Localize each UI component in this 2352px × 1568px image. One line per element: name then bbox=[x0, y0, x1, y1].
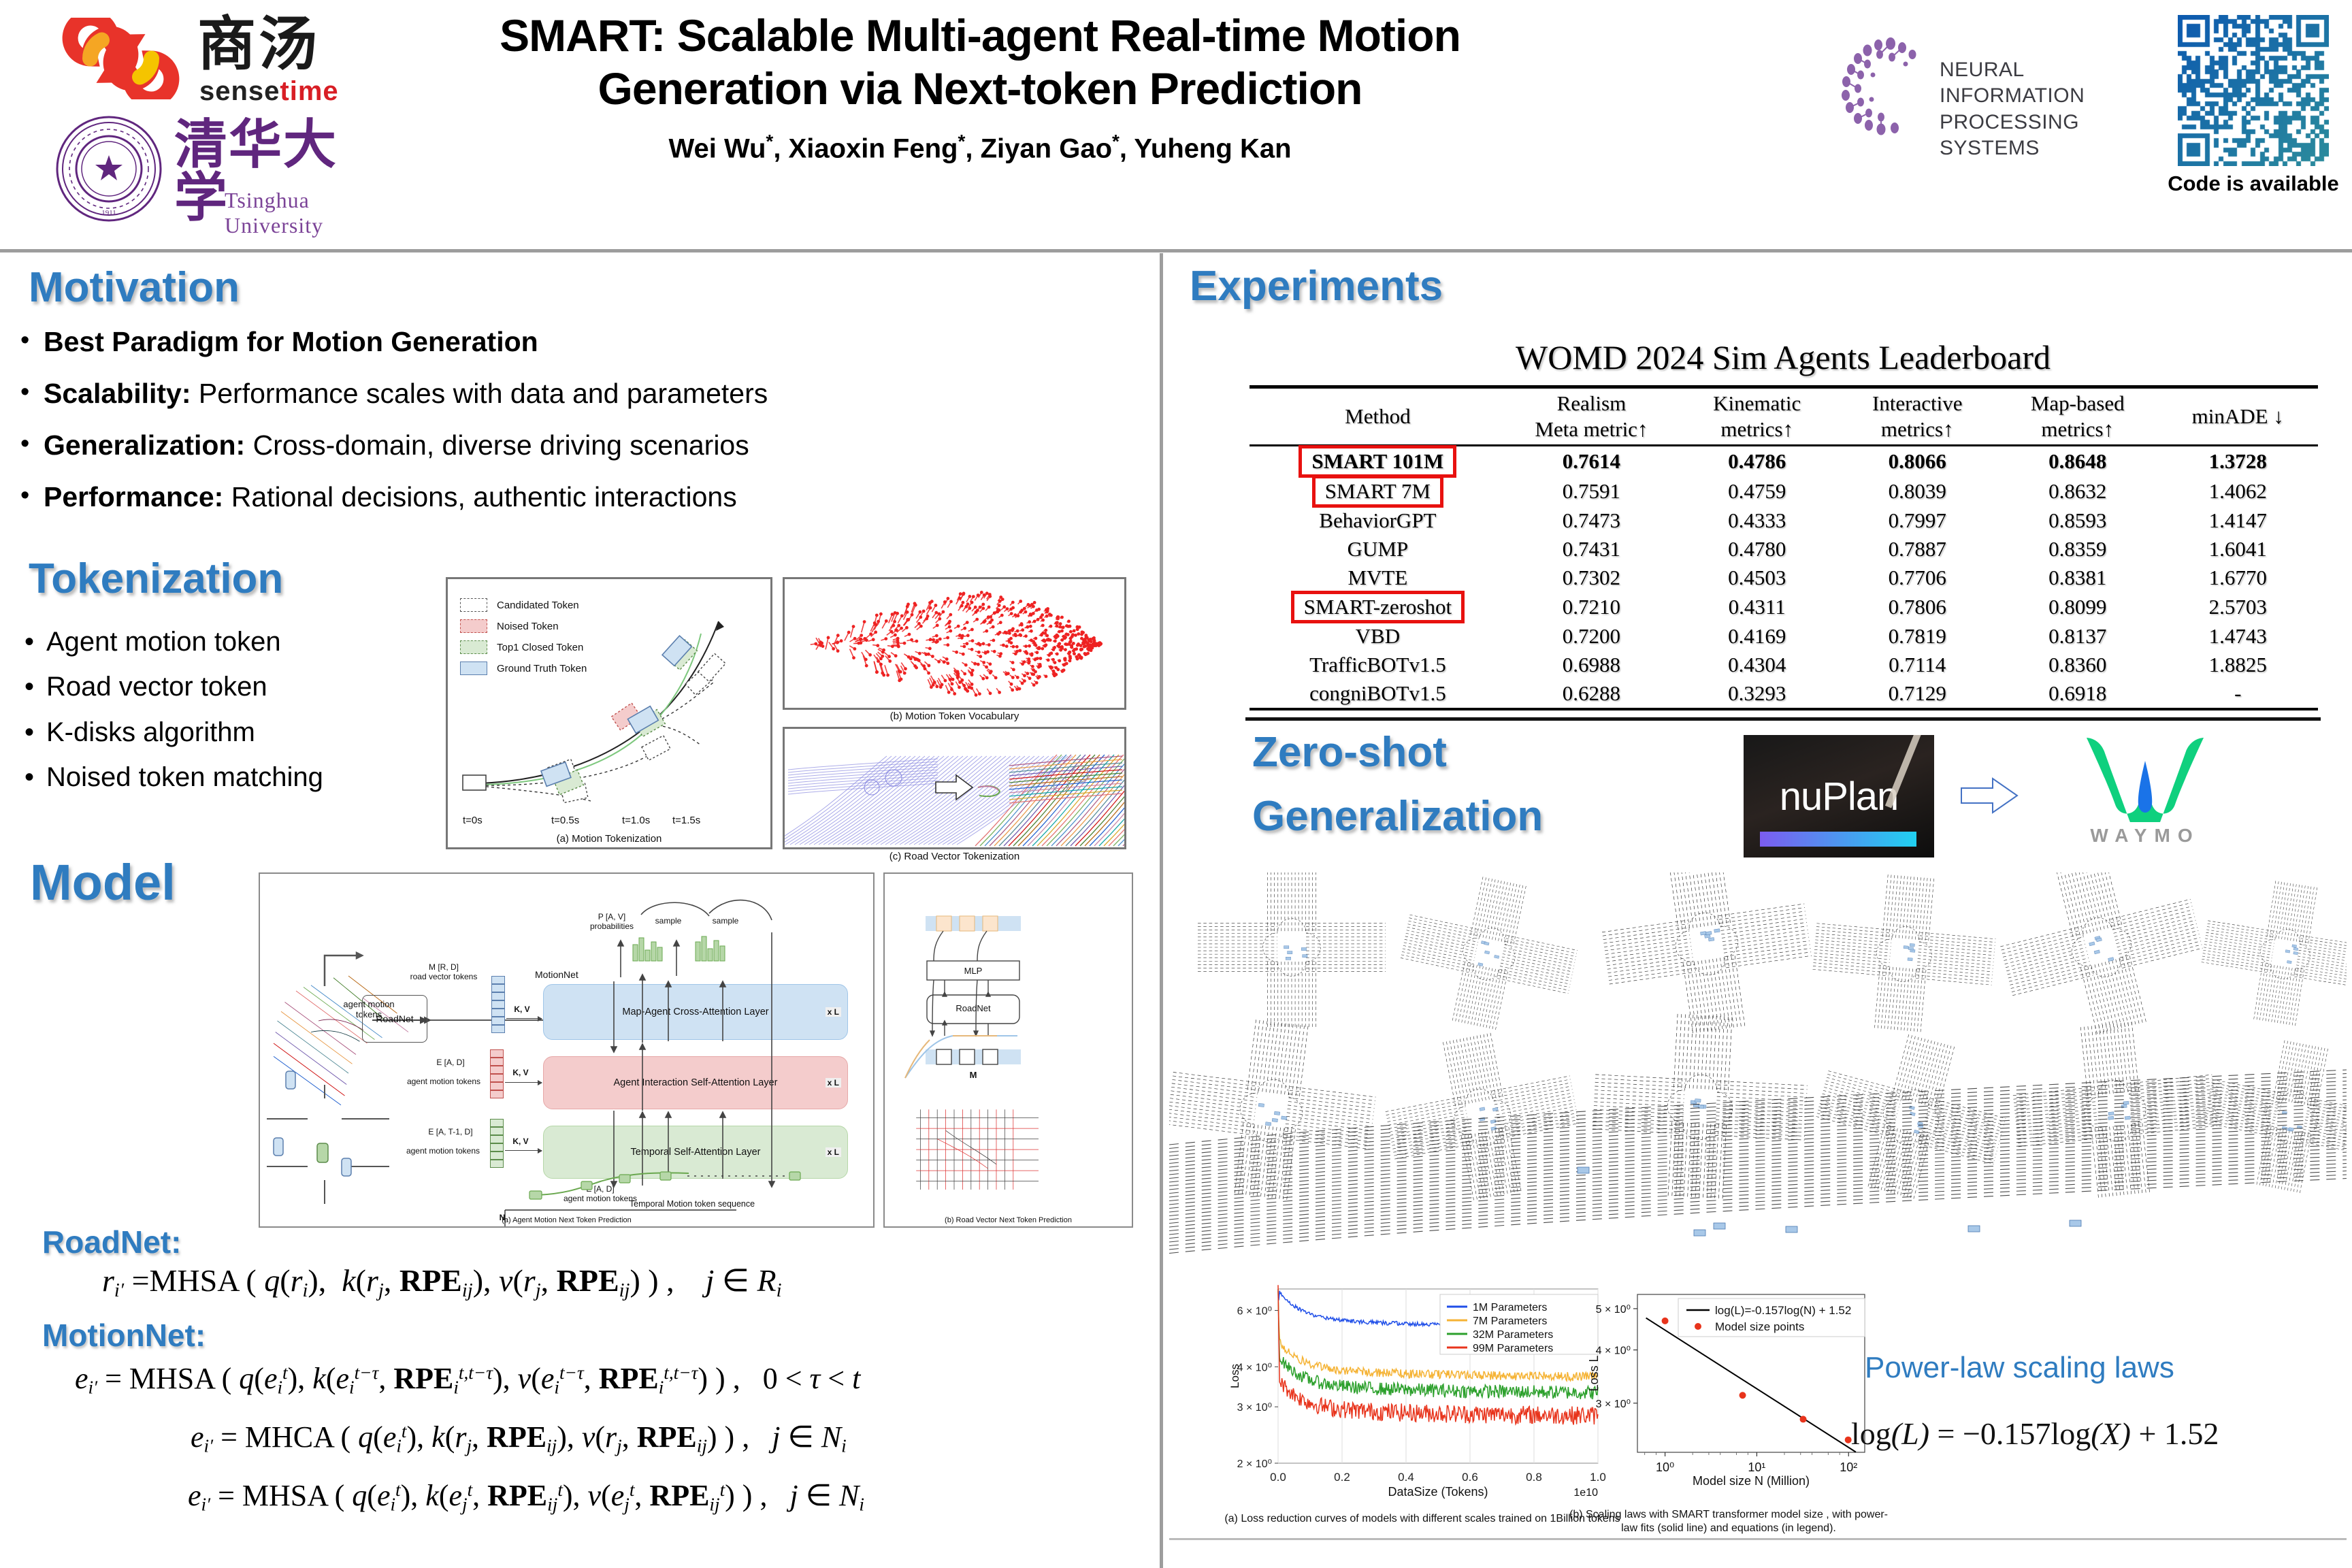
svg-text:32M Parameters: 32M Parameters bbox=[1473, 1329, 1553, 1341]
col-header-kinematic-l1: Kinematic bbox=[1678, 391, 1836, 416]
legend-swatch-noised-icon bbox=[460, 619, 487, 633]
roadnet-block: RoadNet bbox=[362, 995, 427, 1043]
table-row: MVTE0.73020.45030.77060.83811.6770 bbox=[1249, 563, 2318, 592]
col-header-map-l2: metrics↑ bbox=[1999, 416, 2157, 442]
col-header-kinematic: Kinematic metrics↑ bbox=[1677, 387, 1837, 446]
title-block: SMART: Scalable Multi-agent Real-time Mo… bbox=[381, 10, 1579, 164]
motivation-item-3-rest: Rational decisions, authentic interactio… bbox=[223, 481, 736, 512]
figure-model-architecture: agent motion tokens bbox=[259, 872, 1133, 1228]
table-cell-method: GUMP bbox=[1249, 535, 1506, 563]
mlp-text: MLP bbox=[964, 966, 983, 976]
table-header-row: Method Realism Meta metric↑ Kinematic me… bbox=[1249, 387, 2318, 446]
p-av-label: P [A, V] probabilities bbox=[574, 912, 649, 932]
svg-text:Loss: Loss bbox=[1228, 1364, 1241, 1388]
table-cell-method: VBD bbox=[1249, 622, 1506, 651]
svg-text:99M Parameters: 99M Parameters bbox=[1473, 1343, 1553, 1354]
motivation-item-1-bold: Scalability: bbox=[44, 378, 191, 409]
e-at1d-label: E [A, T-1, D] bbox=[411, 1127, 490, 1137]
tokenization-item-2: K-disks algorithm bbox=[46, 717, 255, 748]
col-header-map-l1: Map-based bbox=[1999, 391, 2157, 416]
motivation-item-3-bold: Performance: bbox=[44, 481, 223, 512]
svg-text:5 × 10⁰: 5 × 10⁰ bbox=[1596, 1304, 1631, 1316]
roadnet-equation: ri′ =MHSA ( q(ri), k(rj, RPEij), v(rj, R… bbox=[102, 1262, 782, 1302]
table-row: VBD0.72000.41690.78190.81371.4743 bbox=[1249, 622, 2318, 651]
motionnet-equation-3: ei′ = MHSA ( q(eit), k(ejt, RPEijt), v(e… bbox=[188, 1478, 864, 1516]
table-cell-map: 0.8359 bbox=[1997, 535, 2158, 563]
table-cell-method: SMART-zeroshot bbox=[1249, 592, 1506, 622]
motionnet-equation-heading: MotionNet: bbox=[42, 1317, 206, 1354]
roadnet-equation-heading: RoadNet: bbox=[42, 1224, 181, 1260]
probabilities-text: probabilities bbox=[590, 921, 634, 931]
table-cell-interactive: 0.8066 bbox=[1837, 445, 1997, 476]
table-cell-interactive: 0.8039 bbox=[1837, 476, 1997, 506]
table-cell-kinematic: 0.3293 bbox=[1677, 679, 1837, 709]
bullet-icon: • bbox=[20, 430, 44, 459]
col-header-interactive-l2: metrics↑ bbox=[1838, 416, 1996, 442]
col-header-minade: minADE ↓ bbox=[2157, 387, 2318, 446]
sensetime-word-sense: sense bbox=[199, 76, 280, 106]
svg-text:10¹: 10¹ bbox=[1748, 1460, 1765, 1474]
poster-title-line1: SMART: Scalable Multi-agent Real-time Mo… bbox=[381, 10, 1579, 63]
svg-text:0.4: 0.4 bbox=[1398, 1471, 1414, 1484]
poster-root: 商汤 sensetime 1911 清华大学 Tsinghua Univers bbox=[0, 0, 2352, 1568]
table-cell-kinematic: 0.4780 bbox=[1677, 535, 1837, 563]
sample-text-2: sample bbox=[713, 916, 739, 926]
highlighted-method-name: SMART-zeroshot bbox=[1294, 594, 1461, 620]
table-row: GUMP0.74310.47800.78870.83591.6041 bbox=[1249, 535, 2318, 563]
agent-interaction-self-attention-layer: Agent Interaction Self-Attention Layer x… bbox=[543, 1056, 848, 1109]
col-header-realism-l1: Realism bbox=[1507, 391, 1676, 416]
motivation-item-2-rest: Cross-domain, diverse driving scenarios bbox=[245, 429, 749, 461]
chart-scaling-law: 10⁰10¹10²5 × 10⁰4 × 10⁰3 × 10⁰log(L)=-0.… bbox=[1586, 1286, 1872, 1497]
col-header-realism: Realism Meta metric↑ bbox=[1506, 387, 1677, 446]
neurips-swirl-icon bbox=[1837, 34, 1933, 136]
figure-caption-motion-token-vocabulary: (b) Motion Token Vocabulary bbox=[783, 710, 1126, 722]
neurips-line1: NEURAL INFORMATION bbox=[1940, 57, 2171, 110]
zeroshot-map-visualizations bbox=[1169, 872, 2347, 1254]
legend-item: Candidated Token bbox=[460, 598, 587, 612]
poster-title-line2: Generation via Next-token Prediction bbox=[381, 63, 1579, 116]
col-header-map: Map-based metrics↑ bbox=[1997, 387, 2158, 446]
nuplan-logo: nuPlan bbox=[1744, 735, 1934, 857]
table-cell-map: 0.6918 bbox=[1997, 679, 2158, 709]
table-cell-minade: 1.4062 bbox=[2157, 476, 2318, 506]
table-cell-interactive: 0.7997 bbox=[1837, 506, 1997, 535]
table-row: congniBOTv1.50.62880.32930.71290.6918- bbox=[1249, 679, 2318, 709]
qr-code-caption: Code is available bbox=[2161, 171, 2346, 196]
table-cell-interactive: 0.7819 bbox=[1837, 622, 1997, 651]
model-figure-panel-b: MLP RoadNet M (b) Road Vector Next Token… bbox=[883, 872, 1133, 1228]
col-header-minade-l1: minADE ↓ bbox=[2159, 404, 2317, 429]
table-row: SMART 7M0.75910.47590.80390.86321.4062 bbox=[1249, 476, 2318, 506]
agent-attn-repeat-count: x L bbox=[826, 1078, 841, 1088]
table-cell-interactive: 0.7129 bbox=[1837, 679, 1997, 709]
agent-motion-tokens-text-2: agent motion tokens bbox=[406, 1146, 480, 1156]
legend-item: Noised Token bbox=[460, 619, 587, 633]
bullet-icon: • bbox=[24, 671, 46, 702]
tsinghua-english-wordmark: Tsinghua University bbox=[225, 188, 374, 238]
table-cell-realism: 0.7473 bbox=[1506, 506, 1677, 535]
zeroshot-divider bbox=[1245, 717, 2321, 721]
table-cell-map: 0.8648 bbox=[1997, 445, 2158, 476]
figure-motion-token-vocabulary bbox=[783, 577, 1126, 710]
waymo-w-icon bbox=[2077, 734, 2213, 822]
table-cell-realism: 0.7431 bbox=[1506, 535, 1677, 563]
figure-caption-motion-tokenization: (a) Motion Tokenization bbox=[448, 833, 770, 845]
svg-text:4 × 10⁰: 4 × 10⁰ bbox=[1237, 1362, 1272, 1373]
time-label-0: t=0s bbox=[463, 815, 483, 826]
table-row: SMART 101M0.76140.47860.80660.86481.3728 bbox=[1249, 445, 2318, 476]
chart-caption-scaling-law: (b) Scaling laws with SMART transformer … bbox=[1565, 1508, 1892, 1535]
model-figure-panel-a: agent motion tokens bbox=[259, 872, 875, 1228]
sample-text-1: sample bbox=[655, 916, 682, 926]
highlighted-method-name: SMART 7M bbox=[1316, 478, 1440, 504]
road-vector-tokens-text: road vector tokens bbox=[410, 972, 478, 981]
svg-text:Loss L: Loss L bbox=[1587, 1355, 1601, 1391]
figure-caption-agent-motion-prediction: (a) Agent Motion Next Token Prediction bbox=[260, 1216, 873, 1224]
e-ad-text-2: E [A, D] bbox=[586, 1184, 614, 1194]
svg-text:log(L)=-0.157log(N) + 1.52: log(L)=-0.157log(N) + 1.52 bbox=[1715, 1304, 1851, 1317]
svg-text:DataSize (Tokens): DataSize (Tokens) bbox=[1388, 1485, 1488, 1499]
table-cell-interactive: 0.7887 bbox=[1837, 535, 1997, 563]
table-cell-realism: 0.7302 bbox=[1506, 563, 1677, 592]
svg-text:3 × 10⁰: 3 × 10⁰ bbox=[1237, 1402, 1272, 1414]
table-cell-map: 0.8360 bbox=[1997, 651, 2158, 679]
svg-text:6 × 10⁰: 6 × 10⁰ bbox=[1237, 1306, 1272, 1318]
bottom-divider bbox=[1169, 1538, 2347, 1540]
col-header-interactive: Interactive metrics↑ bbox=[1837, 387, 1997, 446]
cross-attn-label: Map-Agent Cross-Attention Layer bbox=[622, 1007, 768, 1017]
table-cell-method: SMART 7M bbox=[1249, 476, 1506, 506]
tsinghua-logo: 1911 清华大学 Tsinghua University bbox=[54, 114, 374, 230]
chart-a-caption-text: (a) Loss reduction curves of models with… bbox=[1224, 1513, 1620, 1524]
qr-code-canvas[interactable] bbox=[2178, 15, 2329, 166]
leaderboard-table: Method Realism Meta metric↑ Kinematic me… bbox=[1249, 385, 2318, 710]
table-cell-minade: - bbox=[2157, 679, 2318, 709]
table-cell-kinematic: 0.4786 bbox=[1677, 445, 1837, 476]
e-at1d-text: E [A, T-1, D] bbox=[428, 1127, 472, 1137]
section-heading-model: Model bbox=[30, 857, 176, 908]
svg-text:2 × 10⁰: 2 × 10⁰ bbox=[1237, 1458, 1272, 1470]
bullet-icon: • bbox=[24, 762, 46, 793]
nuplan-glint-decor bbox=[1885, 735, 1922, 808]
legend-label-top1: Top1 Closed Token bbox=[497, 642, 583, 653]
svg-text:4 × 10⁰: 4 × 10⁰ bbox=[1596, 1345, 1631, 1357]
temporal-self-attention-layer: Temporal Self-Attention Layer x L bbox=[543, 1126, 848, 1179]
col-header-method: Method bbox=[1249, 387, 1506, 446]
neurips-line2: PROCESSING SYSTEMS bbox=[1940, 110, 2171, 162]
neurips-logo: NEURAL INFORMATION PROCESSING SYSTEMS bbox=[1837, 34, 2171, 136]
legend-item: Ground Truth Token bbox=[460, 661, 587, 675]
svg-text:7M Parameters: 7M Parameters bbox=[1473, 1316, 1547, 1327]
legend-swatch-top1-icon bbox=[460, 640, 487, 654]
svg-text:10²: 10² bbox=[1840, 1460, 1857, 1474]
chart-loss-curves: 0.00.20.40.60.81.06 × 10⁰4 × 10⁰3 × 10⁰2… bbox=[1225, 1279, 1606, 1511]
sensetime-wordmark: sensetime bbox=[199, 78, 339, 105]
table-cell-map: 0.8593 bbox=[1997, 506, 2158, 535]
motionnet-label: MotionNet bbox=[535, 969, 610, 981]
author-list: Wei Wu*, Xiaoxin Feng*, Ziyan Gao*, Yuhe… bbox=[381, 131, 1579, 164]
svg-text:0.6: 0.6 bbox=[1462, 1471, 1478, 1484]
sample-label-1: sample bbox=[648, 916, 689, 926]
agent-motion-tokens-label-1: agent motion tokens bbox=[396, 1077, 491, 1086]
motivation-item-1-rest: Performance scales with data and paramet… bbox=[191, 378, 768, 409]
list-item: •K-disks algorithm bbox=[24, 717, 446, 748]
m-axis-text: M bbox=[970, 1070, 977, 1080]
nuplan-gradient-bar bbox=[1760, 832, 1916, 847]
temporal-seq-text: Temporal Motion token sequence bbox=[630, 1199, 755, 1209]
roadnet-block-b-label: RoadNet bbox=[927, 1003, 1019, 1014]
table-cell-kinematic: 0.4333 bbox=[1677, 506, 1837, 535]
table-row: BehaviorGPT0.74730.43330.79970.85931.414… bbox=[1249, 506, 2318, 535]
svg-text:3 × 10⁰: 3 × 10⁰ bbox=[1596, 1399, 1631, 1410]
svg-text:Model size points: Model size points bbox=[1715, 1320, 1804, 1333]
kv-text-temporal: K, V bbox=[512, 1137, 528, 1146]
table-cell-method: TrafficBOTv1.5 bbox=[1249, 651, 1506, 679]
table-cell-map: 0.8137 bbox=[1997, 622, 2158, 651]
temporal-attn-label: Temporal Self-Attention Layer bbox=[630, 1147, 760, 1158]
table-cell-realism: 0.7614 bbox=[1506, 445, 1677, 476]
kv-label-agent: K, V bbox=[505, 1068, 536, 1077]
col-header-kinematic-l2: metrics↑ bbox=[1678, 416, 1836, 442]
table-cell-minade: 2.5703 bbox=[2157, 592, 2318, 622]
waymo-label: WAYMO bbox=[2057, 825, 2234, 847]
time-label-2: t=1.0s bbox=[622, 815, 650, 826]
list-item: •Road vector token bbox=[24, 671, 446, 702]
figure-caption-road-vector-prediction: (b) Road Vector Next Token Prediction bbox=[885, 1216, 1132, 1224]
table-cell-kinematic: 0.4503 bbox=[1677, 563, 1837, 592]
sensetime-chinese-wordmark: 商汤 bbox=[197, 15, 320, 73]
motionnet-text: MotionNet bbox=[535, 969, 578, 980]
section-heading-zeroshot-line1: Zero-shot bbox=[1252, 728, 1447, 777]
agent-attn-label: Agent Interaction Self-Attention Layer bbox=[613, 1077, 777, 1088]
tokenization-item-0: Agent motion token bbox=[46, 626, 281, 657]
leaderboard-table-title: WOMD 2024 Sim Agents Leaderboard bbox=[1245, 338, 2321, 377]
legend-label-groundtruth: Ground Truth Token bbox=[497, 663, 587, 674]
table-cell-realism: 0.6288 bbox=[1506, 679, 1677, 709]
kv-text-road: K, V bbox=[514, 1004, 529, 1014]
kv-label-road: K, V bbox=[506, 1004, 538, 1014]
table-cell-interactive: 0.7806 bbox=[1837, 592, 1997, 622]
map-agent-cross-attention-layer: Map-Agent Cross-Attention Layer x L bbox=[543, 984, 848, 1040]
table-cell-kinematic: 0.4311 bbox=[1677, 592, 1837, 622]
e-ad-label-1: E [A, D] bbox=[415, 1058, 486, 1067]
road-vector-token-strip bbox=[491, 976, 505, 1033]
svg-text:1M Parameters: 1M Parameters bbox=[1473, 1302, 1547, 1313]
poster-header: 商汤 sensetime 1911 清华大学 Tsinghua Univers bbox=[0, 0, 2352, 249]
figure-road-vector-tokenization bbox=[783, 727, 1126, 849]
arrow-road-to-cross bbox=[506, 1018, 542, 1019]
table-cell-minade: 1.4147 bbox=[2157, 506, 2318, 535]
bullet-icon: • bbox=[20, 482, 44, 510]
qr-code[interactable] bbox=[2178, 15, 2329, 166]
m-axis-label: M bbox=[960, 1070, 987, 1081]
list-item: • Scalability: Performance scales with d… bbox=[20, 378, 1137, 410]
e-ad-text-1: E [A, D] bbox=[436, 1058, 464, 1067]
section-heading-motivation: Motivation bbox=[29, 267, 240, 309]
table-body: SMART 101M0.76140.47860.80660.86481.3728… bbox=[1249, 445, 2318, 709]
section-heading-experiments: Experiments bbox=[1190, 265, 1443, 308]
list-item: •Noised token matching bbox=[24, 762, 446, 793]
table-cell-map: 0.8381 bbox=[1997, 563, 2158, 592]
header-divider bbox=[0, 249, 2352, 252]
table-cell-realism: 0.7591 bbox=[1506, 476, 1677, 506]
motivation-bullet-list: • Best Paradigm for Motion Generation • … bbox=[20, 327, 1137, 534]
table-cell-method: SMART 101M bbox=[1249, 445, 1506, 476]
table-cell-interactive: 0.7706 bbox=[1837, 563, 1997, 592]
neurips-wordmark: NEURAL INFORMATION PROCESSING SYSTEMS bbox=[1940, 57, 2171, 162]
legend-label-candidate: Candidated Token bbox=[497, 600, 579, 611]
table-cell-kinematic: 0.4304 bbox=[1677, 651, 1837, 679]
motivation-item-2-bold: Generalization: bbox=[44, 429, 245, 461]
table-cell-method: congniBOTv1.5 bbox=[1249, 679, 1506, 709]
chart-b-caption-text: (b) Scaling laws with SMART transformer … bbox=[1569, 1509, 1888, 1534]
svg-text:0.0: 0.0 bbox=[1270, 1471, 1286, 1484]
table-cell-method: BehaviorGPT bbox=[1249, 506, 1506, 535]
sensetime-infinity-icon bbox=[51, 18, 191, 99]
table-row: SMART-zeroshot0.72100.43110.78060.80992.… bbox=[1249, 592, 2318, 622]
kv-text-agent: K, V bbox=[512, 1068, 528, 1077]
table-cell-method: MVTE bbox=[1249, 563, 1506, 592]
cross-attn-repeat-count: x L bbox=[826, 1007, 841, 1017]
list-item: • Performance: Rational decisions, authe… bbox=[20, 482, 1137, 513]
roadnet-text-b: RoadNet bbox=[955, 1003, 990, 1013]
col-header-interactive-l1: Interactive bbox=[1838, 391, 1996, 416]
svg-text:0.8: 0.8 bbox=[1526, 1471, 1542, 1484]
table-cell-minade: 1.3728 bbox=[2157, 445, 2318, 476]
highlighted-method-name: SMART 101M bbox=[1302, 448, 1453, 474]
legend-item: Top1 Closed Token bbox=[460, 640, 587, 654]
agent-motion-token-strip-1 bbox=[490, 1049, 504, 1098]
col-header-realism-l2: Meta metric↑ bbox=[1507, 416, 1676, 442]
table-row: TrafficBOTv1.50.69880.43040.71140.83601.… bbox=[1249, 651, 2318, 679]
table-cell-minade: 1.6770 bbox=[2157, 563, 2318, 592]
figure-motion-tokenization: Candidated Token Noised Token Top1 Close… bbox=[446, 577, 772, 849]
list-item: •Agent motion token bbox=[24, 626, 446, 657]
table-cell-map: 0.8099 bbox=[1997, 592, 2158, 622]
agent-motion-tokens-text-1: agent motion tokens bbox=[407, 1077, 480, 1086]
legend-swatch-groundtruth-icon bbox=[460, 661, 487, 675]
m-rd-label: M [R, D] bbox=[429, 962, 459, 972]
nuplan-label: nuPlan bbox=[1780, 774, 1899, 819]
motionnet-equation-2: ei′ = MHCA ( q(eit), k(rj, RPEij), v(rj,… bbox=[191, 1420, 847, 1457]
bullet-icon: • bbox=[20, 327, 44, 355]
power-law-title: Power-law scaling laws bbox=[1865, 1351, 2174, 1385]
table-header: Method Realism Meta metric↑ Kinematic me… bbox=[1249, 387, 2318, 446]
motion-tokenization-legend: Candidated Token Noised Token Top1 Close… bbox=[460, 598, 587, 683]
bullet-icon: • bbox=[24, 626, 46, 657]
table-cell-realism: 0.7200 bbox=[1506, 622, 1677, 651]
waymo-logo: WAYMO bbox=[2057, 734, 2234, 863]
arrow-temporal-input bbox=[505, 1150, 542, 1151]
section-heading-zeroshot-line2: Generalization bbox=[1252, 792, 1543, 840]
transfer-arrow-icon bbox=[1960, 776, 2019, 815]
col-header-method-l1: Method bbox=[1251, 404, 1505, 429]
tokenization-item-1: Road vector token bbox=[46, 671, 267, 702]
svg-text:10⁰: 10⁰ bbox=[1656, 1460, 1674, 1474]
temporal-motion-token-sequence-label: Temporal Motion token sequence bbox=[614, 1199, 770, 1209]
table-cell-realism: 0.7210 bbox=[1506, 592, 1677, 622]
time-label-3: t=1.5s bbox=[672, 815, 700, 826]
table-cell-realism: 0.6988 bbox=[1506, 651, 1677, 679]
svg-text:1911: 1911 bbox=[101, 209, 116, 217]
table-cell-minade: 1.4743 bbox=[2157, 622, 2318, 651]
section-heading-tokenization: Tokenization bbox=[29, 558, 283, 600]
motionnet-equation-1: ei′ = MHSA ( q(eit), k(eit−τ, RPEit,t−τ)… bbox=[75, 1361, 860, 1399]
tokenization-bullet-list: •Agent motion token •Road vector token •… bbox=[24, 626, 446, 807]
list-item: • Generalization: Cross-domain, diverse … bbox=[20, 430, 1137, 461]
tokenization-item-3: Noised token matching bbox=[46, 762, 323, 793]
figure-caption-road-vector-tokenization: (c) Road Vector Tokenization bbox=[783, 851, 1126, 862]
temporal-attn-repeat-count: x L bbox=[826, 1147, 841, 1157]
sensetime-word-time: time bbox=[280, 76, 338, 106]
table-cell-interactive: 0.7114 bbox=[1837, 651, 1997, 679]
arrow-agent-to-self-attn bbox=[505, 1082, 542, 1083]
power-law-equation: log(L) = −0.157log(X) + 1.52 bbox=[1851, 1416, 2219, 1452]
roadnet-block-label: RoadNet bbox=[376, 1013, 413, 1024]
road-vector-tokens-label: M [R, D] road vector tokens bbox=[396, 962, 491, 982]
svg-text:0.2: 0.2 bbox=[1334, 1471, 1350, 1484]
table-cell-kinematic: 0.4759 bbox=[1677, 476, 1837, 506]
sample-label-2: sample bbox=[705, 916, 746, 926]
list-item: • Best Paradigm for Motion Generation bbox=[20, 327, 1137, 358]
legend-label-noised: Noised Token bbox=[497, 621, 559, 632]
table-cell-map: 0.8632 bbox=[1997, 476, 2158, 506]
column-divider bbox=[1160, 253, 1163, 1568]
table-cell-kinematic: 0.4169 bbox=[1677, 622, 1837, 651]
bullet-icon: • bbox=[20, 378, 44, 407]
mlp-block-label: MLP bbox=[927, 966, 1019, 977]
p-av-text: P [A, V] bbox=[598, 912, 625, 921]
bullet-icon: • bbox=[24, 717, 46, 748]
table-cell-minade: 1.8825 bbox=[2157, 651, 2318, 679]
agent-motion-token-strip-2 bbox=[490, 1119, 504, 1168]
motivation-item-0-bold: Best Paradigm for Motion Generation bbox=[44, 326, 538, 357]
agent-motion-tokens-label-2: agent motion tokens bbox=[395, 1146, 491, 1156]
svg-text:Model size N (Million): Model size N (Million) bbox=[1693, 1474, 1810, 1488]
kv-label-temporal: K, V bbox=[505, 1137, 536, 1146]
legend-swatch-candidate-icon bbox=[460, 598, 487, 612]
table-cell-minade: 1.6041 bbox=[2157, 535, 2318, 563]
time-label-1: t=0.5s bbox=[551, 815, 579, 826]
sensetime-logo: 商汤 sensetime bbox=[51, 12, 371, 108]
time-axis-labels: t=0s t=0.5s t=1.0s t=1.5s bbox=[448, 815, 770, 828]
tsinghua-seal-icon: 1911 bbox=[54, 114, 163, 223]
